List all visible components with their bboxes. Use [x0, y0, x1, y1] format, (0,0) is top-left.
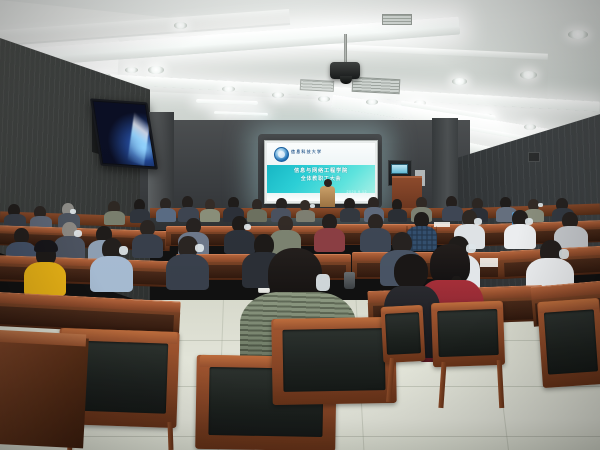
air-vent [382, 14, 412, 25]
face-mask [466, 244, 476, 253]
audience-torso [224, 230, 255, 254]
chair[interactable] [271, 317, 396, 405]
desk-front-block [0, 334, 89, 449]
audience-torso [104, 211, 125, 225]
face-mask [74, 230, 82, 237]
presenter-head [324, 179, 332, 187]
slide-title-line1: 信息与网络工程学院 [267, 167, 375, 174]
audience-torso [156, 208, 176, 222]
face-mask [538, 203, 543, 207]
downlight [272, 92, 284, 98]
chair[interactable] [381, 305, 426, 363]
downlight [318, 96, 330, 102]
audience-torso [340, 208, 360, 222]
handout-paper [480, 258, 498, 267]
university-name-text: 信息科技大学 [291, 150, 322, 154]
chair-backrest-pad [438, 309, 499, 357]
person-yellow-sweater [24, 262, 66, 296]
control-monitor [391, 164, 408, 174]
audience-torso [296, 210, 315, 222]
lecture-hall-photo: 信息科技大学 信息与网络工程学院 全体教职工大会 2020.9.12 [0, 0, 600, 450]
thermos-flask [344, 272, 355, 289]
wall-mounted-monitor [90, 98, 158, 169]
downlight [174, 22, 187, 29]
face-mask [119, 246, 128, 255]
downlight [452, 78, 467, 85]
person-white-jacket [504, 224, 536, 249]
downlight [366, 99, 378, 105]
wall-device [528, 152, 540, 162]
chair-backrest-pad [543, 309, 598, 374]
person-maroon-shirt [314, 228, 345, 252]
black-cap [34, 240, 58, 252]
university-emblem-icon [274, 147, 289, 162]
audience-torso [247, 209, 267, 222]
chair[interactable] [431, 301, 505, 367]
face-mask [195, 244, 204, 252]
downlight [520, 71, 537, 79]
audience-torso [166, 254, 209, 290]
projector-lens-icon [340, 76, 352, 84]
audience-torso [90, 256, 133, 292]
downlight [524, 124, 536, 130]
chair-backrest-pad [385, 312, 422, 354]
chair-backrest-pad [283, 328, 386, 392]
chair-leg [168, 422, 174, 450]
audience-torso [200, 209, 220, 222]
downlight [222, 86, 235, 92]
audience-torso [132, 234, 163, 258]
face-mask [474, 218, 482, 225]
air-vent [352, 77, 401, 94]
downlight [148, 66, 164, 74]
audience-torso [388, 209, 407, 222]
air-vent [300, 79, 335, 92]
face-mask [70, 209, 76, 214]
audience-head [394, 254, 428, 290]
audience-torso [442, 206, 463, 221]
face-mask [316, 274, 330, 291]
chair[interactable] [537, 298, 600, 388]
slide-date-text: 2020.9.12 [347, 190, 368, 194]
presenter-at-front [320, 186, 335, 207]
downlight [568, 30, 588, 39]
face-mask [310, 204, 315, 208]
face-mask [525, 218, 533, 225]
audience-torso [360, 228, 391, 252]
face-mask [244, 224, 251, 230]
slide-title-line2: 全体教职工大会 [267, 175, 375, 182]
downlight [125, 67, 138, 73]
face-mask [559, 249, 569, 259]
emblem-inner [278, 151, 285, 158]
